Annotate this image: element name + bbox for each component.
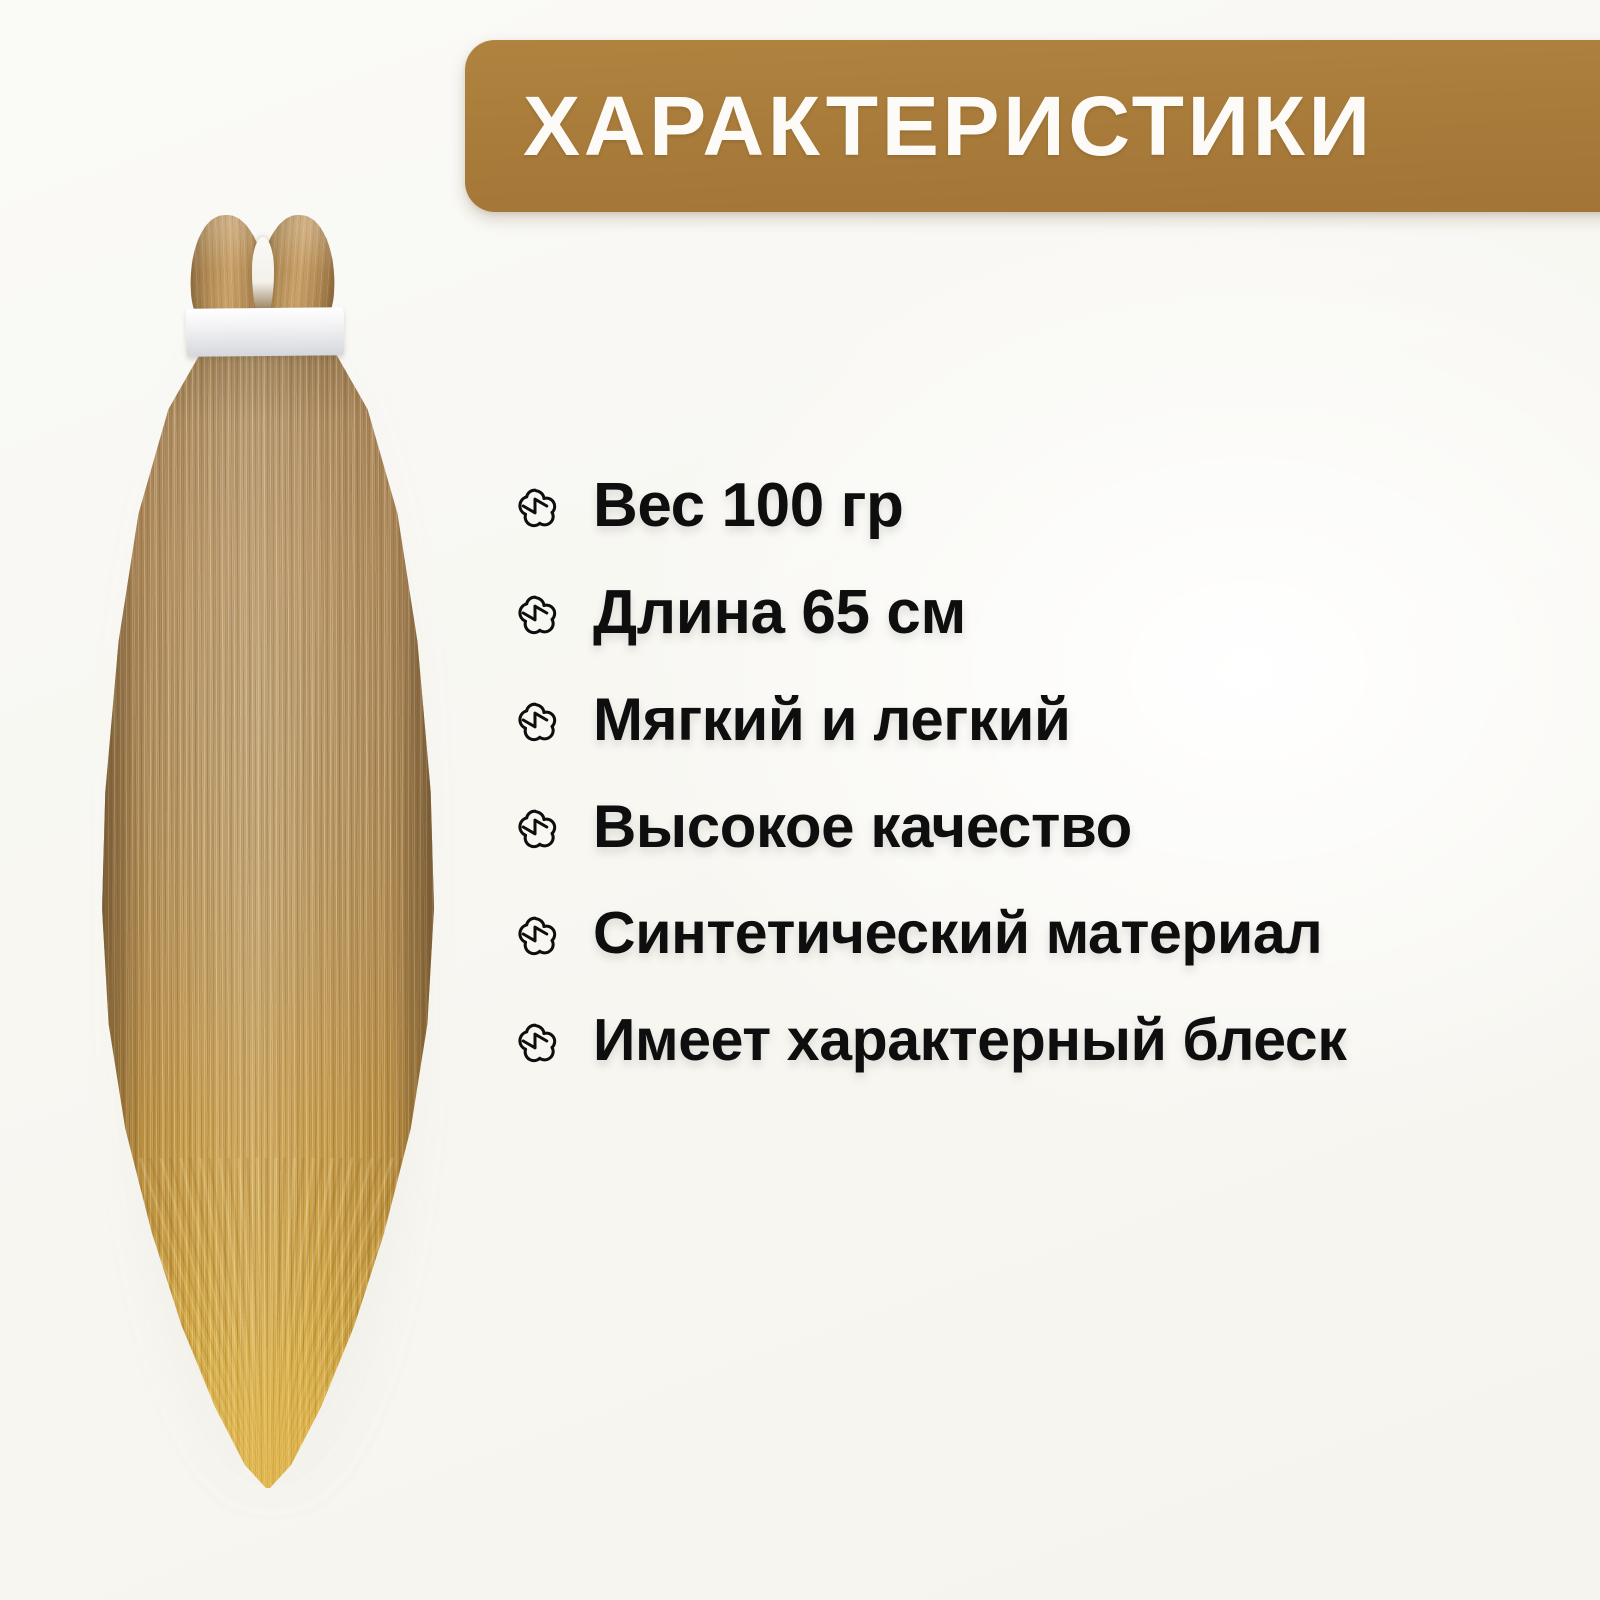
feature-label: Мягкий и легкий xyxy=(593,690,1071,750)
openai-swirl-icon xyxy=(512,697,558,743)
header-banner: ХАРАКТЕРИСТИКИ xyxy=(465,40,1600,212)
feature-label: Имеет характерный блеск xyxy=(593,1011,1346,1070)
page-background: ХАРАКТЕРИСТИКИ Вес 100 гр xyxy=(0,0,1600,1600)
openai-swirl-icon xyxy=(512,804,558,850)
feature-item: Имеет характерный блеск xyxy=(512,987,1532,1094)
feature-item: Вес 100 гр xyxy=(512,452,1532,559)
page-title: ХАРАКТЕРИСТИКИ xyxy=(523,84,1374,168)
feature-label: Синтетический материал xyxy=(593,904,1322,963)
openai-swirl-icon xyxy=(512,911,558,957)
openai-swirl-icon xyxy=(512,590,558,636)
feature-item: Высокое качество xyxy=(512,773,1532,880)
feature-label: Длина 65 см xyxy=(593,582,966,644)
openai-swirl-icon xyxy=(512,1018,558,1064)
feature-item: Мягкий и легкий xyxy=(512,666,1532,773)
feature-label: Вес 100 гр xyxy=(593,475,904,537)
feature-item: Длина 65 см xyxy=(512,559,1532,666)
openai-swirl-icon xyxy=(512,483,558,529)
product-paper-band xyxy=(186,307,344,357)
product-image xyxy=(60,200,480,1530)
feature-list: Вес 100 гр Длина 65 см xyxy=(512,452,1532,1094)
feature-label: Высокое качество xyxy=(593,797,1132,857)
feature-item: Синтетический материал xyxy=(512,880,1532,987)
